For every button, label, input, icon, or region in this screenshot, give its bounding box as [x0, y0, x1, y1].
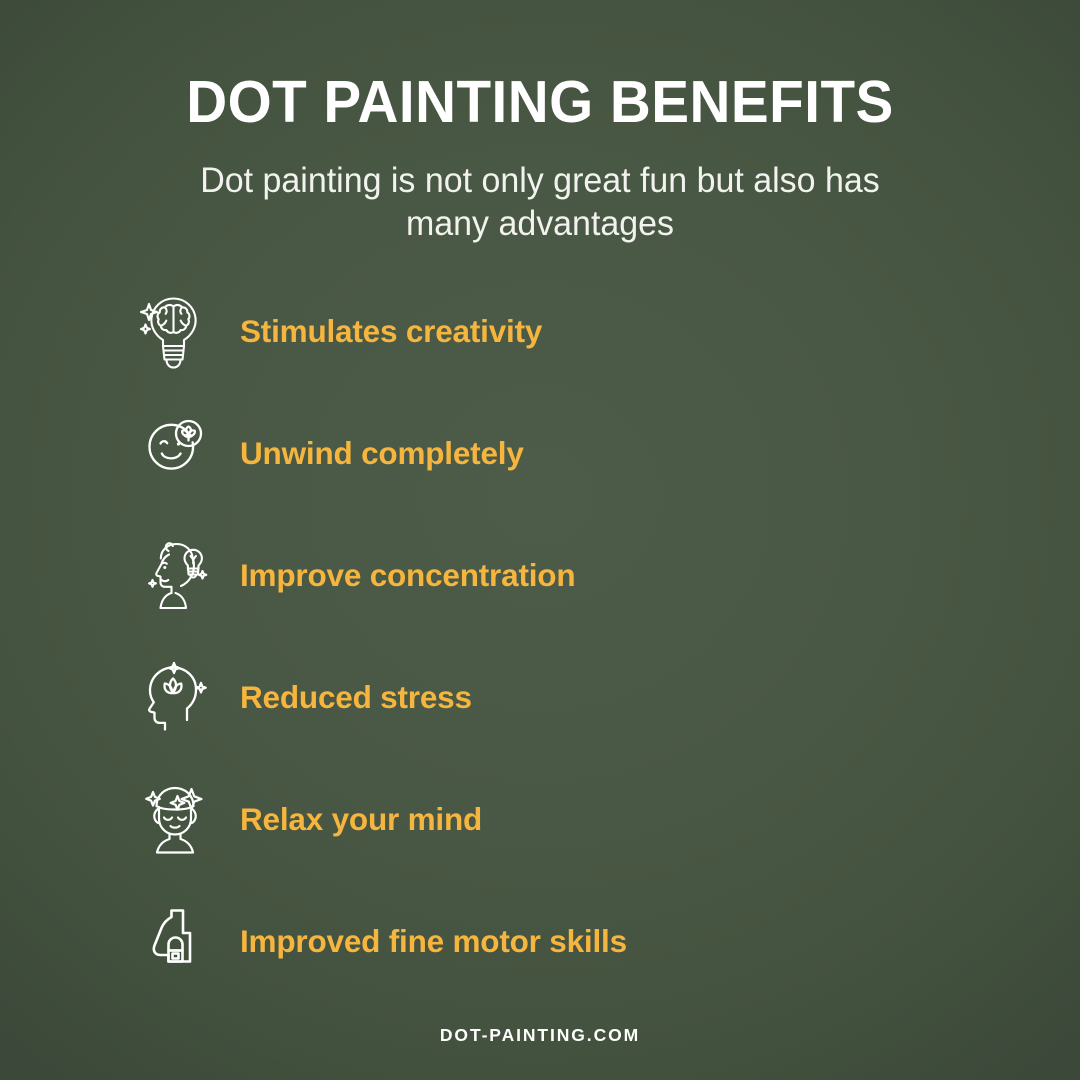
- smiling-face-flower-icon: [136, 411, 214, 497]
- hand-dotting-tool-icon: [136, 899, 214, 985]
- benefit-label: Improve concentration: [240, 560, 996, 592]
- list-item: Stimulates creativity: [136, 282, 996, 382]
- brain-lightbulb-icon: [136, 289, 214, 375]
- benefit-label: Improved fine motor skills: [240, 926, 996, 958]
- list-item: Relax your mind: [136, 770, 996, 870]
- page-title: DOT PAINTING BENEFITS: [22, 72, 1059, 134]
- relaxed-face-sparkle-icon: [136, 777, 214, 863]
- benefit-label: Stimulates creativity: [240, 316, 996, 348]
- list-item: Improved fine motor skills: [136, 892, 996, 992]
- benefit-label: Reduced stress: [240, 682, 996, 714]
- website-url: DOT-PAINTING.COM: [440, 1025, 640, 1045]
- poster-footer: DOT-PAINTING.COM: [0, 1025, 1080, 1046]
- head-lotus-icon: [136, 655, 214, 741]
- list-item: Unwind completely: [136, 404, 996, 504]
- poster-header: DOT PAINTING BENEFITS Dot painting is no…: [0, 0, 1080, 245]
- page-subtitle: Dot painting is not only great fun but a…: [157, 160, 923, 245]
- benefits-list: Stimulates creativity: [136, 282, 996, 992]
- benefits-infographic: DOT PAINTING BENEFITS Dot painting is no…: [0, 0, 1080, 1080]
- list-item: Improve concentration: [136, 526, 996, 626]
- head-lightbulb-icon: [136, 533, 214, 619]
- list-item: Reduced stress: [136, 648, 996, 748]
- benefit-label: Unwind completely: [240, 438, 996, 470]
- benefit-label: Relax your mind: [240, 804, 996, 836]
